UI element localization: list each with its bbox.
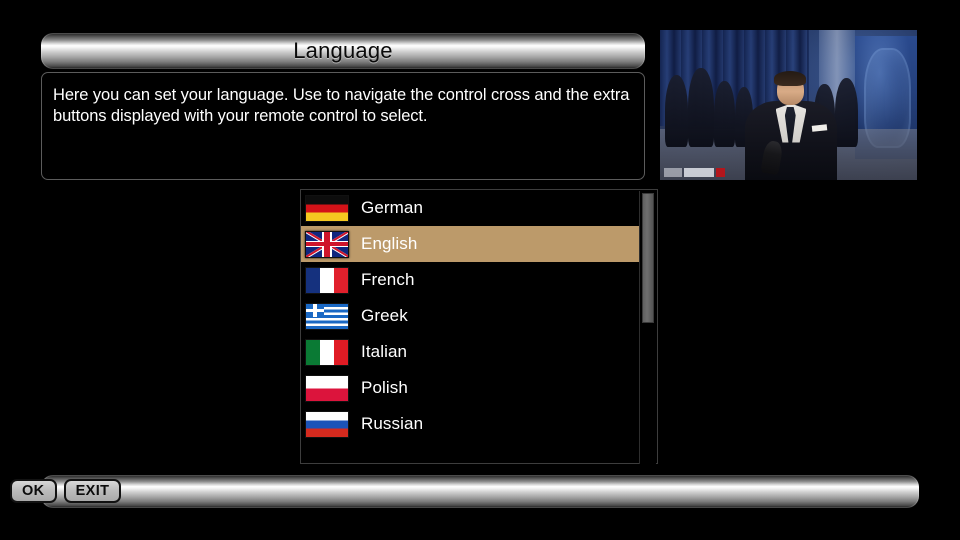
ok-button[interactable]: OK <box>10 479 57 503</box>
flag-russia-icon <box>305 411 349 438</box>
language-label: English <box>361 234 417 254</box>
flag-italy-icon <box>305 339 349 366</box>
language-label: Greek <box>361 306 408 326</box>
language-label: Italian <box>361 342 407 362</box>
logo-mark-right <box>716 168 725 177</box>
language-label: French <box>361 270 415 290</box>
list-item-greek[interactable]: Greek <box>301 298 642 334</box>
live-tv-preview[interactable] <box>660 30 917 180</box>
preview-pocket-square <box>811 124 827 132</box>
footer-button-row: OK EXIT <box>10 479 121 503</box>
page-title: Language <box>41 33 645 69</box>
language-label: Polish <box>361 378 408 398</box>
tv-settings-screen: Language Here you can set your language.… <box>0 0 960 540</box>
list-scrollbar[interactable] <box>639 191 656 464</box>
list-item-german[interactable]: German <box>301 190 642 226</box>
language-label: German <box>361 198 423 218</box>
title-bar: Language <box>41 33 645 69</box>
exit-button[interactable]: EXIT <box>64 479 122 503</box>
list-item-russian[interactable]: Russian <box>301 406 642 442</box>
language-list-panel[interactable]: German English French Greek Italian <box>300 189 658 464</box>
list-item-polish[interactable]: Polish <box>301 370 642 406</box>
logo-mark-center <box>684 168 714 177</box>
flag-greece-icon <box>305 303 349 330</box>
language-list[interactable]: German English French Greek Italian <box>301 190 642 442</box>
news-channel-bug <box>664 168 725 177</box>
scrollbar-thumb[interactable] <box>642 193 654 323</box>
flag-poland-icon <box>305 375 349 402</box>
preview-crowd-figure <box>835 78 858 147</box>
preview-crowd-figure <box>714 81 735 147</box>
flag-united-kingdom-icon <box>305 231 349 258</box>
flag-france-icon <box>305 267 349 294</box>
description-box: Here you can set your language. Use to n… <box>41 72 645 180</box>
footer-bar <box>41 475 919 508</box>
list-item-english[interactable]: English <box>301 226 642 262</box>
list-item-french[interactable]: French <box>301 262 642 298</box>
flag-germany-icon <box>305 195 349 222</box>
description-text: Here you can set your language. Use to n… <box>53 85 633 127</box>
list-item-italian[interactable]: Italian <box>301 334 642 370</box>
preview-crowd-figure <box>688 68 714 148</box>
language-label: Russian <box>361 414 423 434</box>
logo-mark-left <box>664 168 682 177</box>
preview-reporter-hair <box>774 71 806 86</box>
preview-crowd-figure <box>665 75 688 147</box>
